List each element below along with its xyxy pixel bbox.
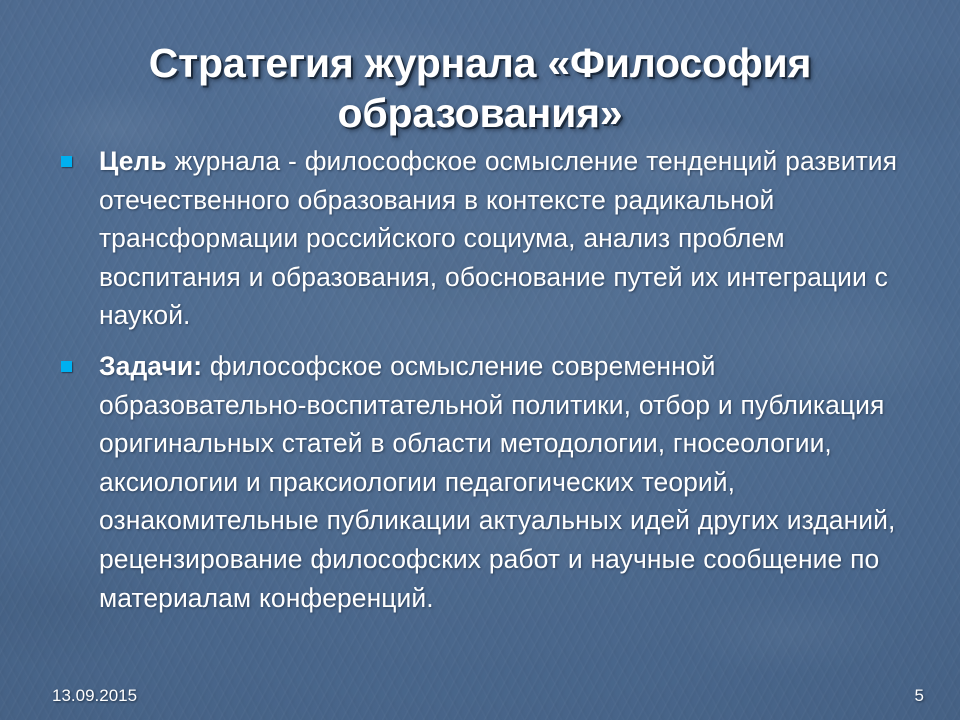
bullet-item-tasks-lead: Задачи: <box>99 351 202 381</box>
presentation-slide: Стратегия журнала «Философия образования… <box>0 0 960 720</box>
square-bullet-icon <box>61 156 72 167</box>
bullet-item-goal: Цель журнала - философское осмысление те… <box>55 142 915 335</box>
slide-date: 13.09.2015 <box>52 686 137 706</box>
slide-title: Стратегия журнала «Философия образования… <box>60 38 900 138</box>
bullet-item-goal-text: Цель журнала - философское осмысление те… <box>99 142 915 335</box>
square-bullet-icon <box>61 361 72 372</box>
bullet-item-tasks-text: Задачи: философское осмысление современн… <box>99 347 915 617</box>
bullet-item-goal-body: журнала - философское осмысление тенденц… <box>99 146 897 330</box>
bullet-item-tasks-body: философское осмысление современной образ… <box>99 351 895 613</box>
bullet-item-tasks: Задачи: философское осмысление современн… <box>55 347 915 617</box>
slide-number: 5 <box>915 686 924 706</box>
bullet-item-goal-lead: Цель <box>99 146 167 176</box>
bullet-list: Цель журнала - философское осмысление те… <box>55 142 915 629</box>
